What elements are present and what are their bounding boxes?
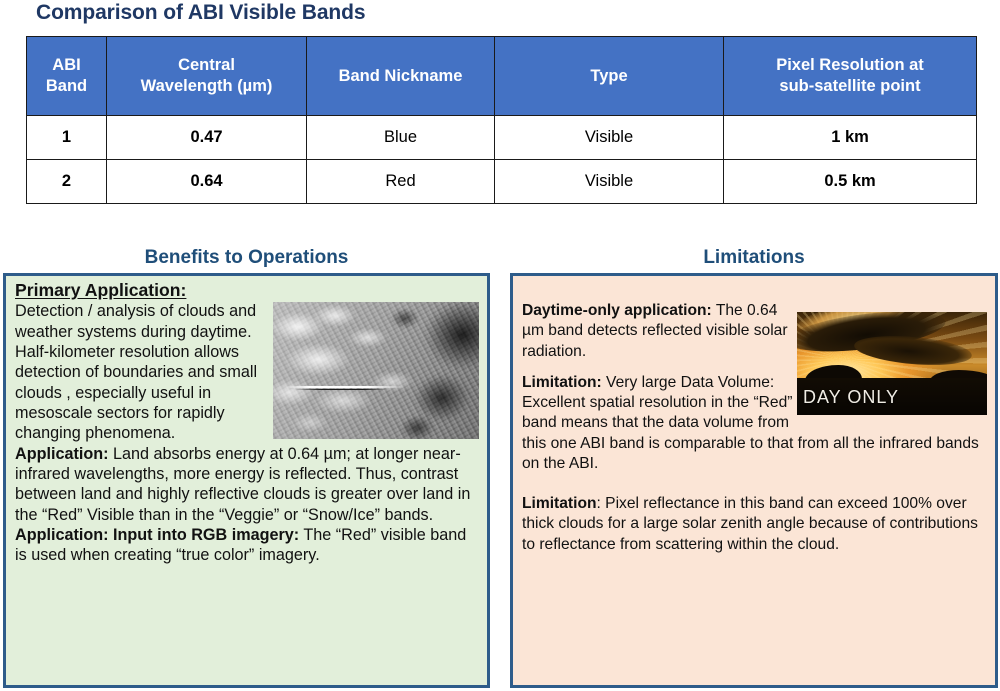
benefits-primary-body: Detection / analysis of clouds and weath… <box>15 302 257 442</box>
limitations-reflectance-label: Limitation <box>522 495 597 512</box>
benefits-rgb-application: Application: Input into RGB imagery: The… <box>15 525 479 566</box>
day-only-caption: DAY ONLY <box>803 387 899 408</box>
column-header-central-wavelength: Central Wavelength (µm) <box>107 37 307 116</box>
cell-type: Visible <box>495 116 724 160</box>
benefits-application-label: Application: <box>15 445 109 463</box>
benefits-heading: Benefits to Operations <box>3 247 490 269</box>
limitations-daytime-label: Daytime-only application: <box>522 302 712 319</box>
page-title: Comparison of ABI Visible Bands <box>36 1 365 25</box>
limitations-heading: Limitations <box>510 247 998 269</box>
table-row: 1 0.47 Blue Visible 1 km <box>27 116 977 160</box>
cell-nickname: Blue <box>307 116 495 160</box>
limitations-pixel-reflectance: Limitation: Pixel reflectance in this ba… <box>522 494 987 555</box>
column-header-abi-band: ABI Band <box>27 37 107 116</box>
satellite-cloud-image <box>273 302 479 439</box>
cell-resolution: 1 km <box>724 116 977 160</box>
benefits-application: Application: Land absorbs energy at 0.64… <box>15 444 479 525</box>
limitations-panel: DAY ONLY Daytime-only application: The 0… <box>510 273 998 688</box>
column-header-pixel-resolution: Pixel Resolution at sub-satellite point <box>724 37 977 116</box>
column-header-abi-band-line1: ABI <box>52 56 80 74</box>
cell-band: 2 <box>27 160 107 204</box>
column-header-central-wavelength-line2: Wavelength (µm) <box>141 77 273 95</box>
cell-wavelength: 0.47 <box>107 116 307 160</box>
table-row: 2 0.64 Red Visible 0.5 km <box>27 160 977 204</box>
column-header-band-nickname: Band Nickname <box>307 37 495 116</box>
cell-type: Visible <box>495 160 724 204</box>
abi-visible-bands-table: ABI Band Central Wavelength (µm) Band Ni… <box>26 36 977 204</box>
sunset-day-only-image: DAY ONLY <box>797 312 987 415</box>
cell-band: 1 <box>27 116 107 160</box>
table-header-row: ABI Band Central Wavelength (µm) Band Ni… <box>27 37 977 116</box>
cell-resolution: 0.5 km <box>724 160 977 204</box>
column-header-pixel-resolution-line1: Pixel Resolution at <box>776 56 924 74</box>
column-header-type: Type <box>495 37 724 116</box>
column-header-central-wavelength-line1: Central <box>178 56 235 74</box>
column-header-abi-band-line2: Band <box>46 77 87 95</box>
cell-nickname: Red <box>307 160 495 204</box>
benefits-primary-label: Primary Application: <box>15 280 186 300</box>
limitations-volume-label: Limitation: <box>522 374 602 391</box>
benefits-rgb-label: Application: Input into RGB imagery: <box>15 526 299 544</box>
cell-wavelength: 0.64 <box>107 160 307 204</box>
column-header-pixel-resolution-line2: sub-satellite point <box>779 77 920 95</box>
benefits-panel: Primary Application: Detection / analysi… <box>3 273 490 688</box>
